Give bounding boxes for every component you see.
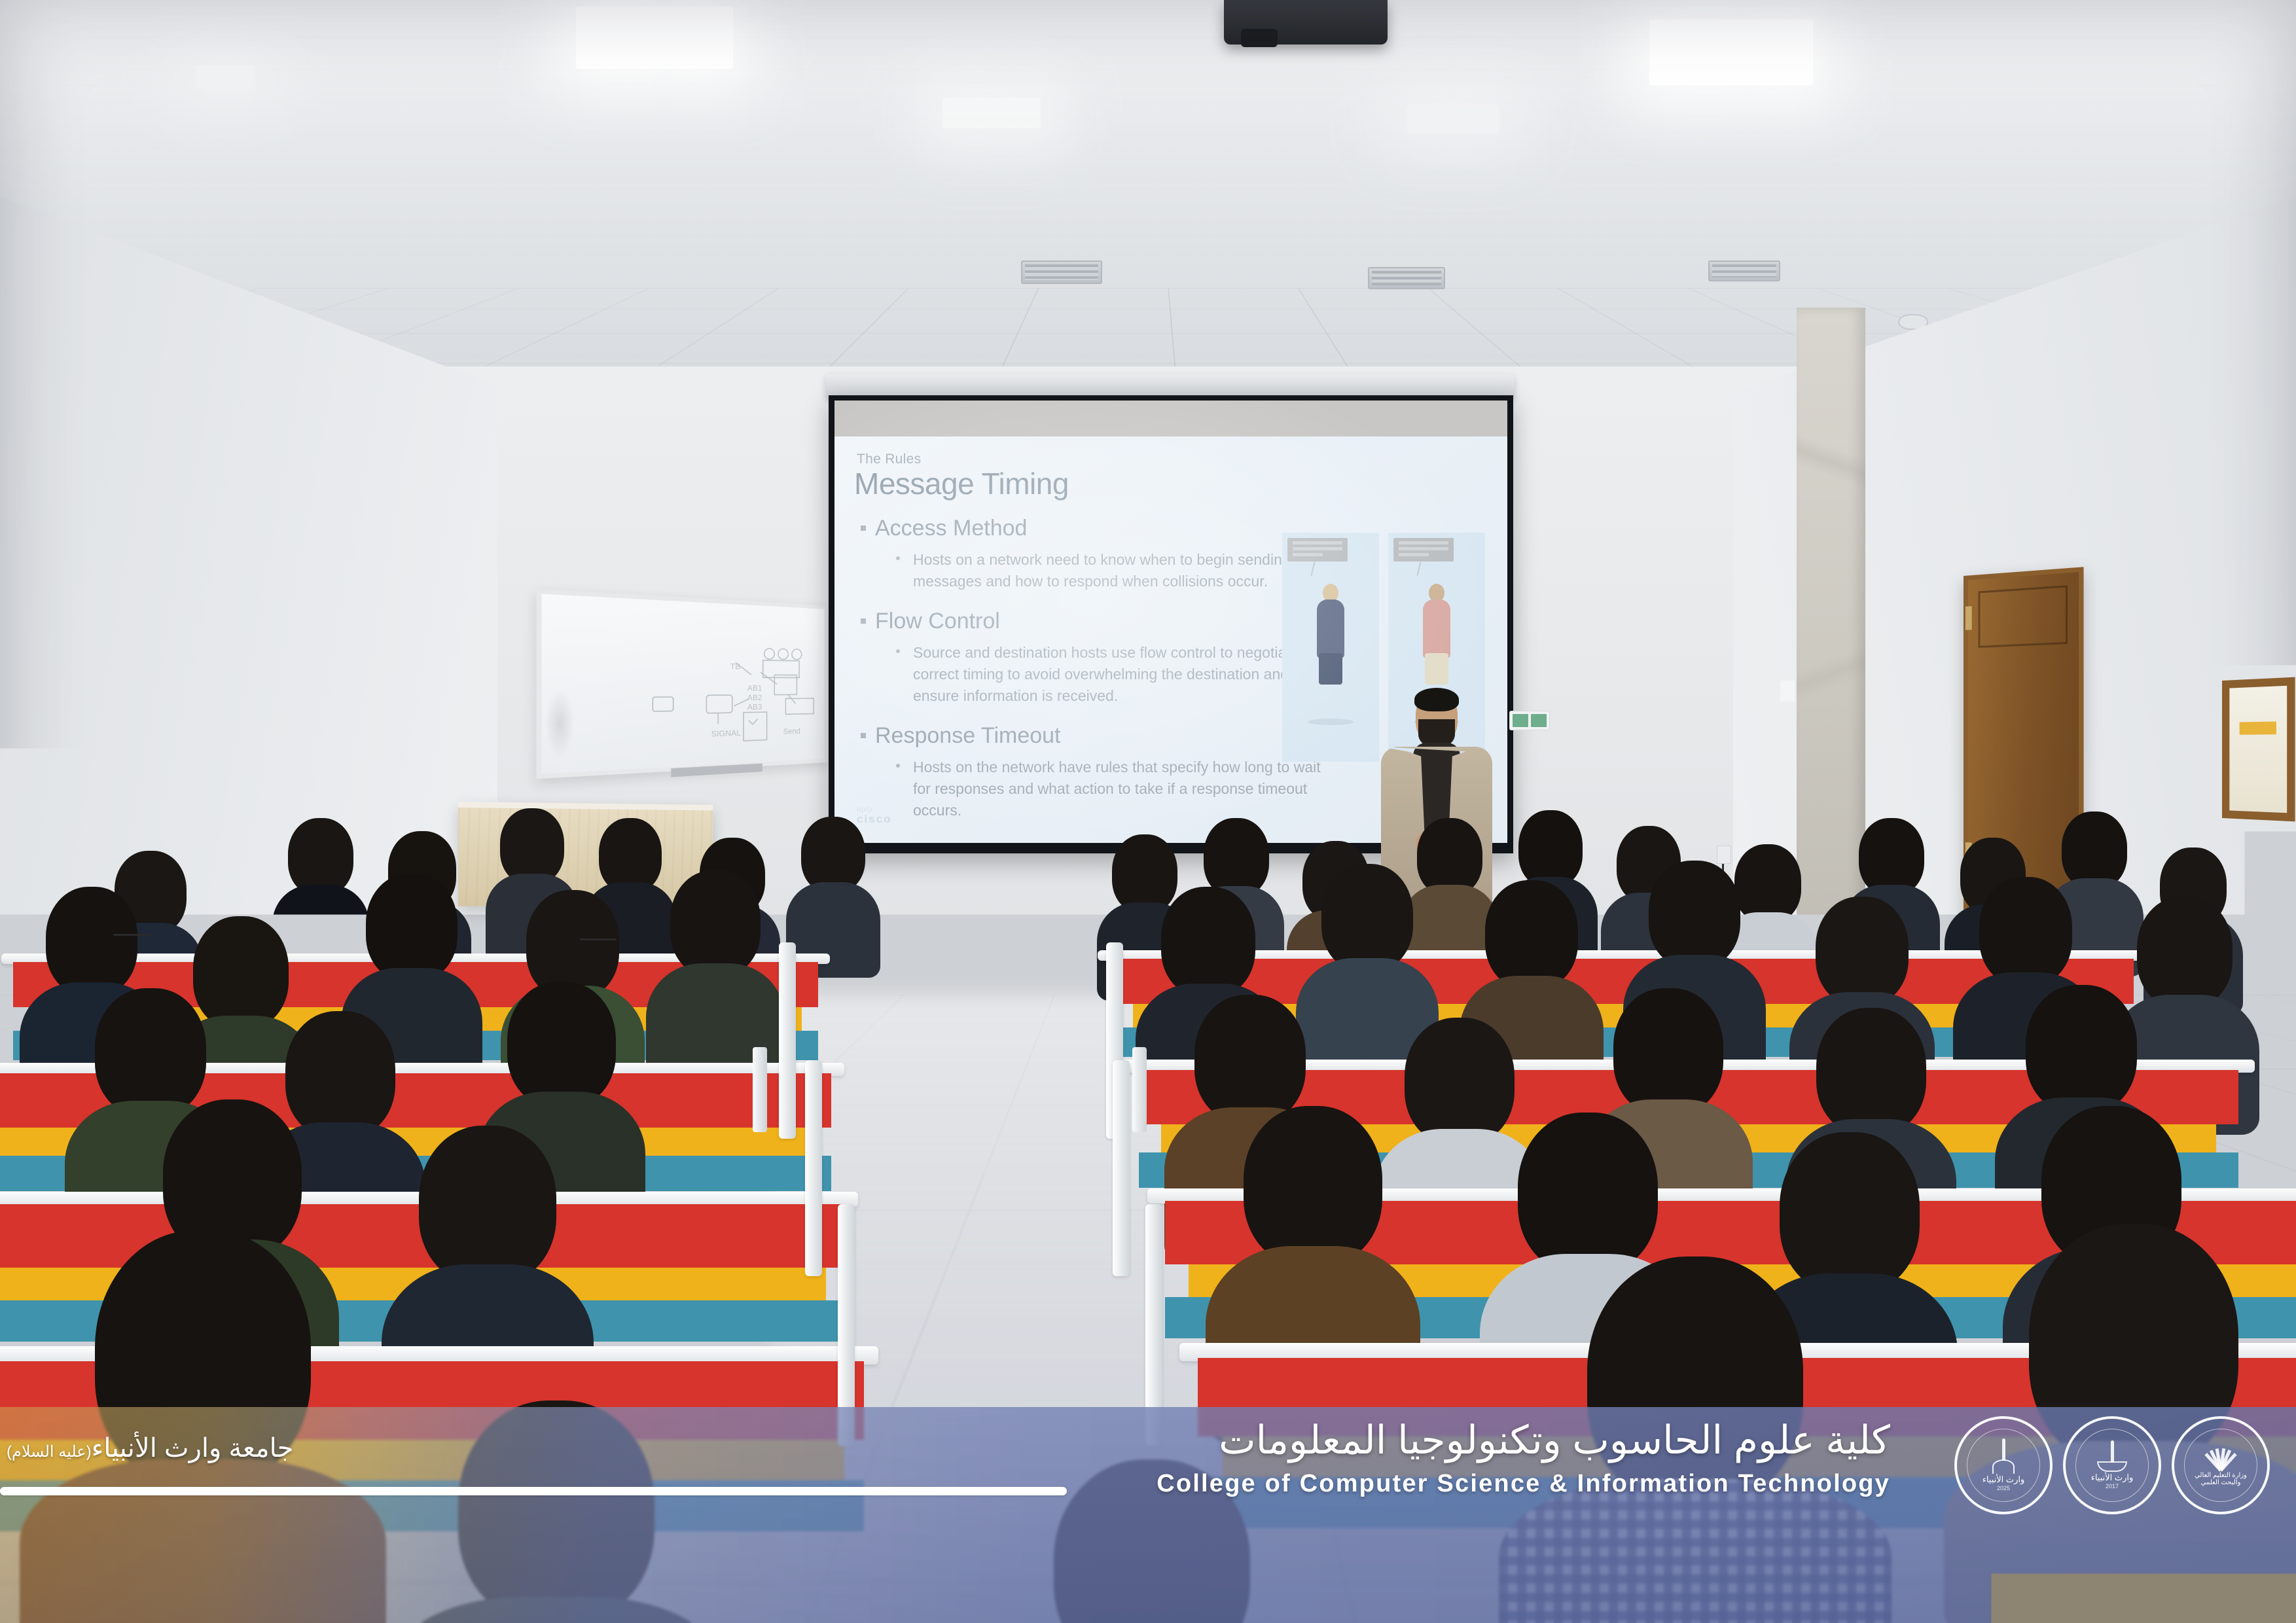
- university-name-arabic: جامعة وارث الأنبياء(عليه السلام): [7, 1433, 294, 1463]
- door-hinge-top: [1965, 606, 1972, 630]
- ceiling-light-4: [1407, 105, 1499, 134]
- banner-tint: [0, 1407, 2296, 1623]
- svg-text:AB2: AB2: [747, 693, 762, 702]
- university-seal-icon: وارث الأنبياء 2017: [2063, 1416, 2161, 1514]
- whiteboard: AB1AB2AB3 SIGNALSend TB: [536, 589, 828, 779]
- svg-text:AB1: AB1: [747, 684, 762, 693]
- speech-bubble-tail: [1416, 562, 1421, 576]
- speech-bubble-icon: [1393, 538, 1454, 562]
- bench-divider: [1113, 1060, 1130, 1276]
- ceiling-light-1: [576, 7, 733, 69]
- bench-leg: [1132, 1047, 1147, 1132]
- university-name-suffix: (عليه السلام): [7, 1443, 92, 1461]
- slide-body-access-method: Hosts on a network need to know when to …: [913, 549, 1332, 592]
- banner-divider-line: [0, 1487, 1067, 1495]
- ceiling-light-5: [196, 65, 255, 88]
- speech-bubble-tail: [1310, 562, 1315, 576]
- whiteboard-network-sketch: AB1AB2AB3 SIGNALSend TB: [541, 594, 824, 777]
- slide-eyebrow: The Rules: [857, 452, 1488, 467]
- svg-text:SIGNAL: SIGNAL: [711, 728, 741, 739]
- figure-shadow: [1308, 719, 1354, 725]
- light-switch-panel[interactable]: [1509, 711, 1550, 730]
- college-name-arabic: كلية علوم الحاسوب وتكنولوجيا المعلومات: [1219, 1418, 1890, 1463]
- presenter-hair: [1414, 688, 1459, 711]
- svg-text:AB3: AB3: [747, 702, 762, 711]
- college-name-english: College of Computer Science & Informatio…: [1157, 1470, 1890, 1498]
- figure-man: [1418, 584, 1455, 682]
- student: [795, 817, 871, 961]
- bench-divider: [805, 1060, 822, 1276]
- figure-woman: [1312, 584, 1349, 682]
- speech-bubble-icon: [1287, 538, 1348, 562]
- bench-leg: [753, 1047, 767, 1132]
- lecture-hall-photo: AB1AB2AB3 SIGNALSend TB The Rules Messag…: [0, 0, 2296, 1623]
- seal-group: وارث الأنبياء 2025 وارث الأنبياء 2017: [1954, 1416, 2270, 1514]
- illustration-woman-speaking: [1282, 533, 1379, 762]
- ceiling-vent-2: [1368, 267, 1445, 289]
- slide-body-response-timeout: Hosts on the network have rules that spe…: [913, 757, 1332, 821]
- college-seal-icon: وارث الأنبياء 2025: [1954, 1416, 2053, 1514]
- svg-text:TB: TB: [730, 662, 741, 671]
- palm-rays-icon: [2204, 1444, 2238, 1471]
- slide-title: Message Timing: [854, 466, 1488, 501]
- bench-divider: [779, 942, 796, 1139]
- cisco-bars-icon: ıl¦ıl¦ı: [857, 806, 891, 813]
- eyeglasses-icon: [113, 934, 151, 936]
- bottom-banner: جامعة وارث الأنبياء(عليه السلام) كلية عل…: [0, 1407, 2296, 1623]
- slide-body-flow-control: Source and destination hosts use flow co…: [913, 642, 1332, 706]
- ceiling-light-2: [1649, 20, 1813, 85]
- framed-picture: [2222, 677, 2295, 822]
- ceiling-light-3: [942, 98, 1041, 128]
- svg-text:Send: Send: [783, 726, 800, 736]
- ceiling-vent-3: [1708, 260, 1780, 281]
- ceiling-vent-1: [1021, 260, 1102, 284]
- eyeglasses-icon: [580, 938, 617, 940]
- screen-top-band: [834, 401, 1507, 437]
- ceiling-projector: [1224, 0, 1388, 45]
- student: [661, 870, 769, 1063]
- university-name-main: جامعة وارث الأنبياء: [92, 1434, 294, 1463]
- ministry-seal-icon: وزارة التعليم العالي والبحث العلمي: [2172, 1416, 2270, 1514]
- wall-paper-note: [1780, 681, 1795, 702]
